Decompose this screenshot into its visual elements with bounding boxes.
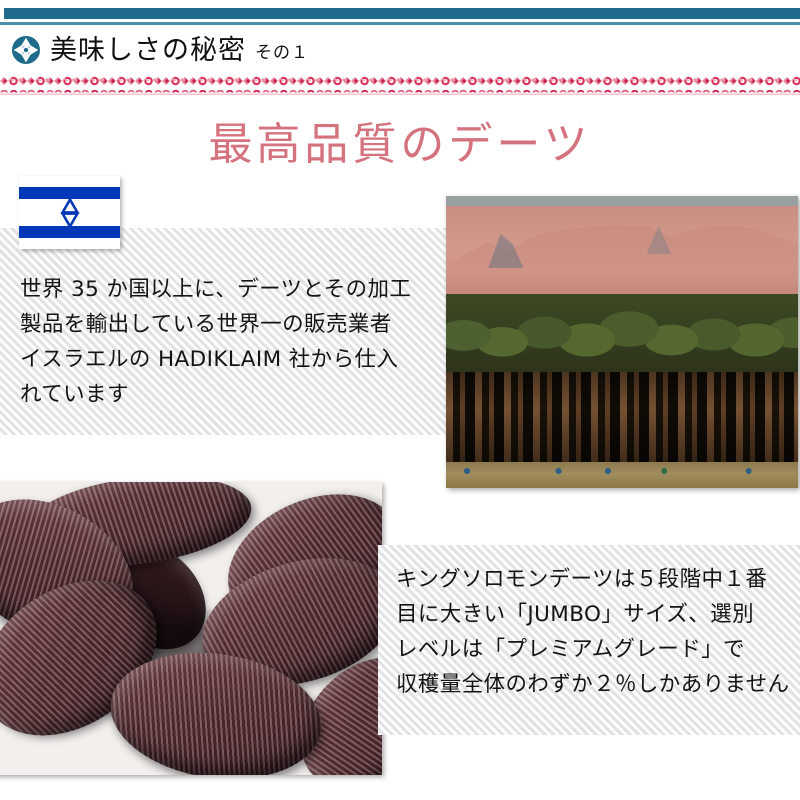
header-title: 美味しさの秘密	[50, 37, 246, 64]
palm-grove-photo	[446, 196, 798, 488]
ethnic-pattern-border	[0, 74, 800, 95]
header-accent-bar	[4, 8, 800, 19]
page-title: 最高品質のデーツ	[0, 108, 800, 172]
dates-closeup-photo	[0, 482, 382, 775]
grade-text: キングソロモンデーツは５段階中１番 目に大きい「JUMBO」サイズ、選別 レベル…	[396, 562, 796, 702]
supplier-text: 世界 35 か国以上に、デーツとその加工 製品を輸出している世界一の販売業者 イ…	[20, 272, 445, 412]
header-subtitle: その１	[255, 38, 309, 63]
palm-ground-markers	[446, 464, 798, 478]
star-of-david-icon	[54, 197, 86, 229]
header-accent-rule	[0, 22, 800, 25]
header-row: 美味しさの秘密 その１	[0, 28, 800, 72]
israel-flag	[19, 176, 120, 249]
rosette-medallion-icon	[12, 36, 40, 64]
promo-page: 美味しさの秘密 その１	[0, 0, 800, 800]
palm-trunk-shading	[446, 372, 798, 464]
